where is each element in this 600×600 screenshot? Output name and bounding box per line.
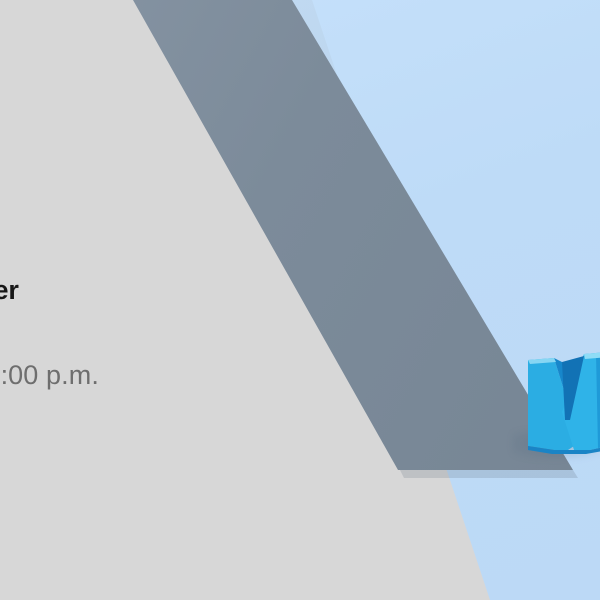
- 3d-letter-v: [524, 346, 600, 458]
- text-block: OL for a summer 00 p.m. –9:00 p.m.: [0, 0, 420, 600]
- poster-canvas: OL for a summer 00 p.m. –9:00 p.m.: [0, 0, 600, 600]
- subheadline-text: for a summer: [0, 276, 19, 306]
- event-time-text: 00 p.m. –9:00 p.m.: [0, 361, 99, 391]
